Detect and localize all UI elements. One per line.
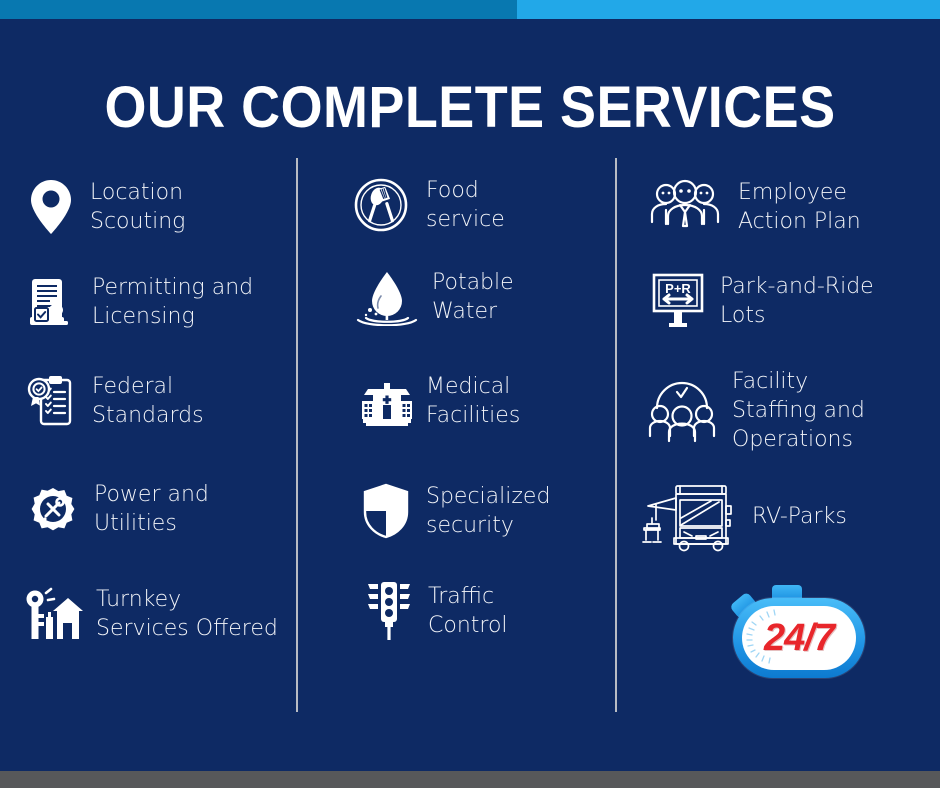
services-column-2: Food service [352, 160, 610, 720]
service-item-location-scouting[interactable]: Location Scouting [30, 178, 185, 236]
service-item-medical-facilities[interactable]: Medical Facilities [360, 372, 520, 430]
map-pin-icon [30, 179, 72, 235]
three-people-icon [648, 178, 722, 236]
top-accent-bar [0, 0, 940, 19]
badge-text: 24/7 [742, 606, 856, 670]
team-check-icon [648, 378, 716, 444]
top-accent-bar-left [0, 0, 517, 19]
service-label: Federal Standards [92, 372, 204, 430]
key-house-icon [22, 587, 84, 641]
service-item-food-service[interactable]: Food service [352, 176, 505, 234]
service-label: Permitting and Licensing [92, 273, 253, 331]
service-item-potable-water[interactable]: Potable Water [354, 268, 514, 326]
traffic-light-icon [366, 580, 412, 642]
gear-tools-icon [26, 482, 80, 536]
fork-spoon-circle-icon [352, 176, 410, 234]
service-label: Potable Water [432, 268, 514, 326]
clipboard-badge-icon [26, 375, 76, 427]
service-label: RV-Parks [752, 502, 847, 531]
page-title: OUR COMPLETE SERVICES [33, 74, 907, 141]
service-item-permitting-and-licensing[interactable]: Permitting and Licensing [28, 273, 253, 331]
water-drop-icon [354, 268, 420, 326]
bottom-bar [0, 771, 940, 788]
services-poster: OUR COMPLETE SERVICES Location Scouting [0, 0, 940, 788]
park-and-ride-sign-icon: P+R [650, 272, 706, 330]
service-item-employee-action-plan[interactable]: Employee Action Plan [648, 178, 861, 236]
service-label: Facility Staffing and Operations [732, 367, 865, 454]
service-label: Specialized security [426, 482, 550, 540]
shield-icon [362, 483, 410, 539]
service-item-specialized-security[interactable]: Specialized security [362, 482, 550, 540]
rv-motorhome-icon [640, 480, 744, 552]
service-item-federal-standards[interactable]: Federal Standards [26, 372, 204, 430]
services-column-1: Location Scouting [18, 160, 290, 720]
service-item-power-and-utilities[interactable]: Power and Utilities [26, 480, 209, 538]
service-item-rv-parks[interactable]: RV-Parks [640, 480, 847, 552]
service-label: Employee Action Plan [738, 178, 861, 236]
service-label: Park-and-Ride Lots [720, 272, 874, 330]
service-label: Traffic Control [428, 582, 508, 640]
stopwatch-24-7-badge: 24/7 [725, 583, 871, 683]
service-item-traffic-control[interactable]: Traffic Control [366, 580, 508, 642]
service-label: Location Scouting [90, 178, 185, 236]
service-item-turnkey-services-offered[interactable]: Turnkey Services Offered [22, 585, 278, 643]
service-label: Food service [426, 176, 505, 234]
service-label: Power and Utilities [94, 480, 209, 538]
hospital-building-icon [360, 375, 414, 427]
service-label: Turnkey Services Offered [96, 585, 278, 643]
service-item-facility-staffing-and-operations[interactable]: Facility Staffing and Operations [648, 367, 865, 454]
service-item-park-and-ride-lots[interactable]: P+R Park-and-Ride Lots [650, 272, 874, 330]
service-label: Medical Facilities [426, 372, 520, 430]
top-accent-bar-right [517, 0, 940, 19]
document-stamp-icon [28, 277, 76, 327]
